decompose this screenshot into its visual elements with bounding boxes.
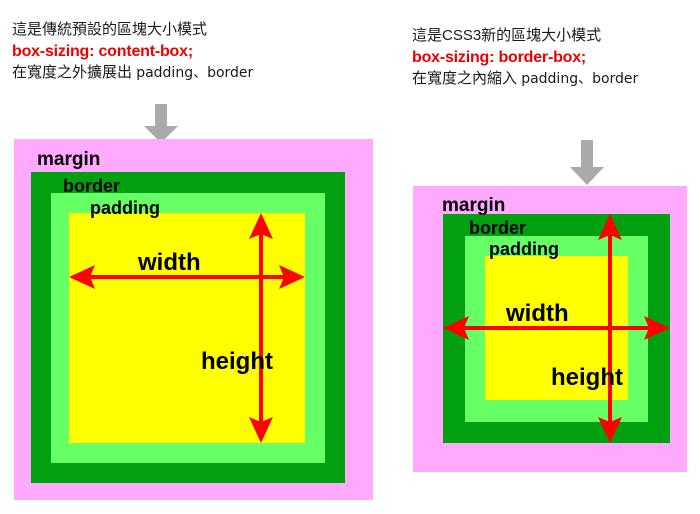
- left-height-label: height: [201, 350, 273, 374]
- right-padding-label: padding: [489, 240, 559, 258]
- right-caption-line1: 這是CSS3新的區塊大小模式: [412, 26, 638, 47]
- left-border-label: border: [63, 177, 120, 195]
- right-height-label: height: [551, 366, 623, 390]
- right-caption-line3-terms: padding、border: [521, 71, 638, 87]
- right-caption-line3-prefix: 在寬度之內縮入: [412, 70, 517, 87]
- right-gray-down-arrow-icon: [566, 140, 608, 186]
- left-margin-label: margin: [37, 150, 100, 169]
- left-caption-line3: 在寬度之外擴展出 padding、border: [12, 63, 253, 84]
- right-height-arrow-icon: [598, 214, 622, 443]
- right-caption-block: 這是CSS3新的區塊大小模式 box-sizing: border-box; 在…: [412, 26, 638, 89]
- left-padding-label: padding: [90, 199, 160, 217]
- left-caption-block: 這是傳統預設的區塊大小模式 box-sizing: content-box; 在…: [12, 20, 253, 83]
- right-width-label: width: [506, 302, 569, 326]
- left-caption-line3-prefix: 在寬度之外擴展出: [12, 64, 132, 81]
- right-caption-code: box-sizing: border-box;: [412, 47, 638, 69]
- left-gray-down-arrow-icon: [140, 104, 182, 144]
- right-margin-label: margin: [442, 196, 505, 215]
- left-width-label: width: [138, 251, 201, 275]
- right-caption-line3: 在寬度之內縮入 padding、border: [412, 69, 638, 90]
- left-height-arrow-icon: [249, 213, 273, 443]
- diagram-canvas: 這是傳統預設的區塊大小模式 box-sizing: content-box; 在…: [0, 0, 700, 514]
- right-border-label: border: [469, 219, 526, 237]
- left-caption-line1: 這是傳統預設的區塊大小模式: [12, 20, 253, 41]
- left-caption-line3-terms: padding、border: [136, 65, 253, 81]
- left-caption-code: box-sizing: content-box;: [12, 41, 253, 63]
